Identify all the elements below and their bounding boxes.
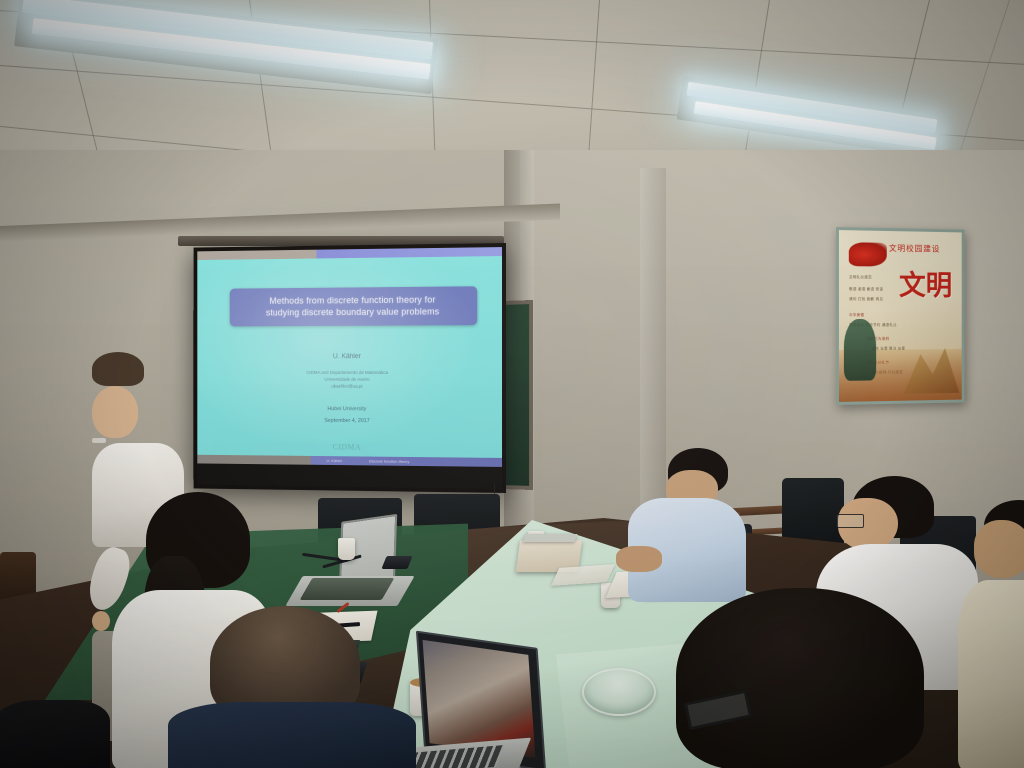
silhouette-left-body [0, 700, 110, 768]
tissue-box-top [522, 534, 577, 542]
person-attendee-cream-shirt [960, 500, 1024, 768]
poster-line-2: 请问 打扰 抱歉 再见 [849, 297, 913, 302]
slide-affiliation-2: Universidade de Aveiro [197, 377, 502, 383]
presenter-glasses-icon [92, 438, 106, 443]
slide-affiliation-1: CIDMA and Departamento de Matemática [197, 370, 502, 376]
attendee-blue-arm [616, 546, 662, 572]
wall-poster: 文明校园建设 文明 文明礼仪规范 敬语 谢语 歉语 别语 请问 打扰 抱歉 再见… [836, 227, 965, 405]
slide-venue: Hubei University [197, 404, 502, 413]
glass-ashtray[interactable] [582, 668, 656, 716]
presenter-head [92, 386, 138, 438]
paper-cup-1[interactable] [338, 538, 355, 560]
phone-far[interactable] [381, 556, 412, 569]
slide-title-box: Methods from discrete function theory fo… [230, 286, 478, 326]
poster-line-0: 文明礼仪规范 [849, 275, 911, 280]
slide-title-line-2: studying discrete boundary value problem… [234, 305, 472, 318]
poster-line-3: 中华美德 [849, 313, 899, 318]
attendee-white-tee-glasses-icon [836, 514, 864, 528]
person-silhouette-left [0, 700, 110, 768]
slide-author: U. Kähler [197, 353, 502, 360]
slide-footer-bar: U. Kähler Discrete function theory [197, 455, 502, 467]
presentation-slide: Methods from discrete function theory fo… [197, 256, 502, 467]
attendee-cream-torso [958, 580, 1024, 768]
attendee-cream-head [974, 520, 1024, 578]
poster-figure-art [844, 319, 876, 381]
seminar-room-photo: 文明校园建设 文明 文明礼仪规范 敬语 谢语 歉语 别语 请问 打扰 抱歉 再见… [0, 0, 1024, 768]
poster-line-1: 敬语 谢语 歉语 别语 [849, 287, 913, 292]
slide-footer-author: U. Kähler [304, 458, 365, 464]
slide-footer-title: Discrete function theory [365, 458, 502, 464]
presenter-hair [92, 352, 144, 386]
slide-email: ukaehler@ua.pt [197, 384, 502, 391]
slide-date: September 4, 2017 [197, 417, 502, 427]
poster-red-flourish [849, 242, 886, 266]
attendee-navy-torso [168, 702, 416, 768]
person-attendee-foreground-glasses [676, 588, 926, 768]
projection-screen: Methods from discrete function theory fo… [194, 243, 506, 493]
person-attendee-blue-shirt [620, 448, 740, 598]
poster-header-text: 文明校园建设 [889, 243, 957, 266]
person-attendee-navy-shirt [178, 606, 398, 768]
attendee-fg-hair [676, 588, 924, 768]
cidma-logo: CIDMA [333, 442, 361, 451]
